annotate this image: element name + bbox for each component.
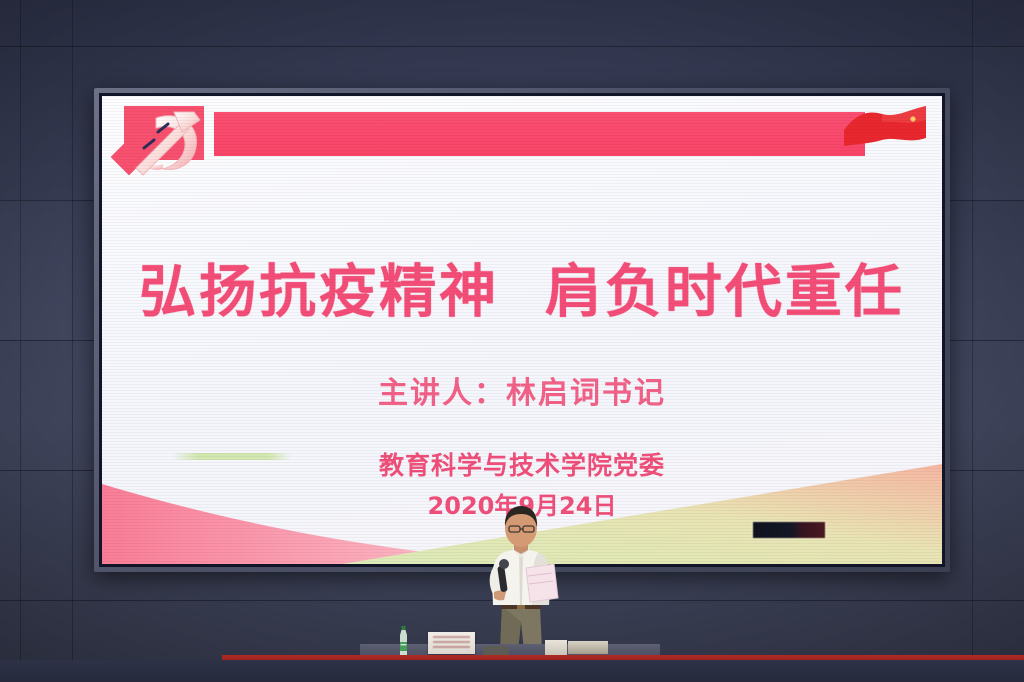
paper-cup (545, 640, 567, 656)
presentation-slide: 弘扬抗疫精神 肩负时代重任 主讲人：林启词书记 教育科学与技术学院党委 2020… (102, 96, 942, 564)
slide-text-block: 弘扬抗疫精神 肩负时代重任 主讲人：林启词书记 教育科学与技术学院党委 2020… (102, 96, 942, 564)
presenter-figure (466, 506, 576, 651)
desk-object (483, 646, 509, 655)
lecture-hall-photo: 弘扬抗疫精神 肩负时代重任 主讲人：林启词书记 教育科学与技术学院党委 2020… (0, 0, 1024, 682)
book (568, 641, 608, 654)
slide-speaker-line: 主讲人：林启词书记 (102, 368, 942, 412)
slide-title: 弘扬抗疫精神 肩负时代重任 (102, 246, 942, 328)
stage-foreground (0, 660, 1024, 682)
screen-bezel-inner: 弘扬抗疫精神 肩负时代重任 主讲人：林启词书记 教育科学与技术学院党委 2020… (99, 93, 945, 567)
slide-organization: 教育科学与技术学院党委 (102, 446, 942, 482)
name-placard (428, 632, 475, 654)
projection-screen: 弘扬抗疫精神 肩负时代重任 主讲人：林启词书记 教育科学与技术学院党委 2020… (94, 88, 950, 572)
